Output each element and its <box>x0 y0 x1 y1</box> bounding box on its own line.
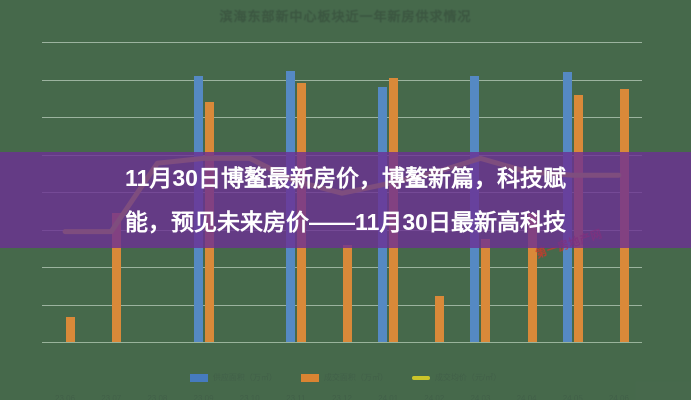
x-axis-tick: 23.11 <box>286 394 305 400</box>
chart-legend: 供应面积（万㎡） 成交面积（万㎡） 成交均价（元/㎡） <box>0 372 691 383</box>
x-axis-tick: 24.03 <box>470 394 490 400</box>
legend-item-supply: 供应面积（万㎡） <box>190 372 277 383</box>
x-axis-tick: 24.01 <box>378 394 398 400</box>
legend-item-deal: 成交面积（万㎡） <box>301 372 388 383</box>
headline-line-2: 能，预见未来房价——11月30日最新高科技 <box>0 200 691 244</box>
x-axis-tick: 24.06 <box>609 394 629 400</box>
x-axis-tick: 24.02 <box>424 394 444 400</box>
x-axis-tick: 23.08 <box>147 394 167 400</box>
x-axis-tick: 23.07 <box>101 394 121 400</box>
screenshot-root: 滨海东部新中心板块近一年新房供求情况 4.00 3.50 3.00 2.50 2… <box>0 0 691 400</box>
x-axis-tick: 23.10 <box>240 394 260 400</box>
x-axis-tick: 24.05 <box>563 394 583 400</box>
gridline-baseline <box>42 342 642 343</box>
x-axis-tick: 24.04 <box>517 394 537 400</box>
orange-square-icon <box>301 374 319 382</box>
chart-title: 滨海东部新中心板块近一年新房供求情况 <box>0 6 691 25</box>
legend-label: 成交面积（万㎡） <box>324 372 388 383</box>
x-axis-tick: 23.06 <box>55 394 75 400</box>
blue-square-icon <box>190 374 208 382</box>
x-axis-tick: 23.09 <box>194 394 214 400</box>
legend-label: 成交均价（元/㎡） <box>435 372 501 383</box>
legend-item-price: 成交均价（元/㎡） <box>412 372 501 383</box>
x-axis-tick: 23.12 <box>332 394 352 400</box>
headline-overlay: 11月30日博鳌最新房价，博鳌新篇，科技赋 能，预见未来房价——11月30日最新… <box>0 152 691 248</box>
headline-line-1: 11月30日博鳌最新房价，博鳌新篇，科技赋 <box>0 156 691 200</box>
legend-label: 供应面积（万㎡） <box>213 372 277 383</box>
yellow-line-icon <box>412 376 430 380</box>
